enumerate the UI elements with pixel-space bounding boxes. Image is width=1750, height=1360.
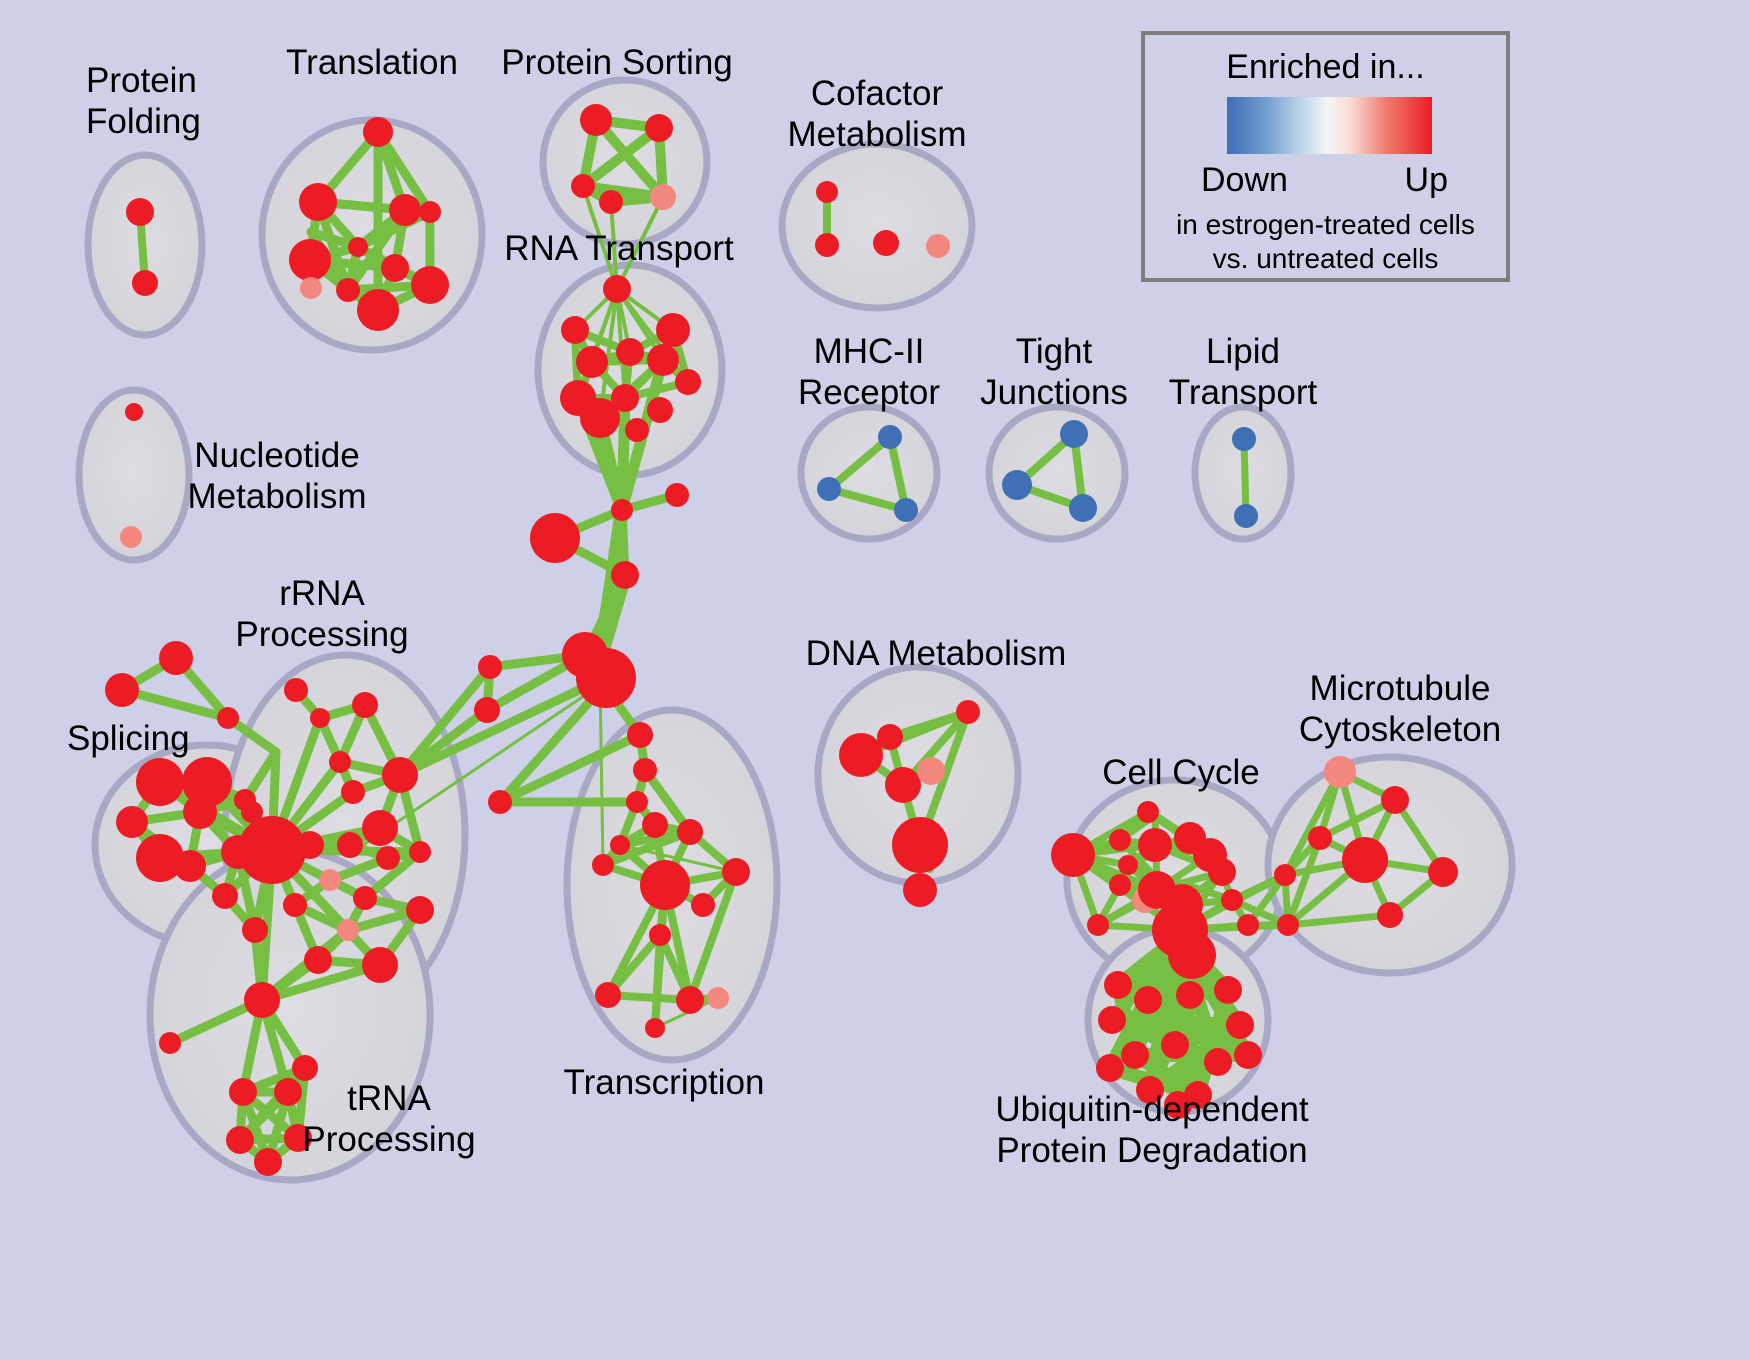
legend-panel: Enriched in... Down Up in estrogen-treat… xyxy=(1141,31,1510,282)
cluster-label-microtubule-cytoskeleton: Microtubule Cytoskeleton xyxy=(1299,668,1501,750)
hull-mhc-ii xyxy=(801,407,937,539)
cluster-label-cell-cycle: Cell Cycle xyxy=(1102,752,1260,793)
node-mhc-2 xyxy=(817,477,841,501)
cluster-label-tight-junctions: Tight Junctions xyxy=(980,331,1128,413)
node-mhc-3 xyxy=(894,498,918,522)
cluster-label-rrna-processing: rRNA Processing xyxy=(235,573,408,655)
cluster-label-protein-sorting: Protein Sorting xyxy=(501,42,733,83)
cluster-label-rna-transport: RNA Transport xyxy=(504,228,734,269)
cluster-label-splicing: Splicing xyxy=(67,718,190,759)
node-lipid-1 xyxy=(1232,427,1256,451)
legend-high-label: Up xyxy=(1405,161,1448,200)
cluster-label-protein-folding: Protein Folding xyxy=(86,60,201,142)
hull-cofactor-metabolism xyxy=(782,144,972,308)
legend-subtitle-line1: in estrogen-treated cells xyxy=(1176,209,1475,240)
legend-subtitle-line2: vs. untreated cells xyxy=(1213,243,1439,274)
cluster-label-cofactor-metabolism: Cofactor Metabolism xyxy=(788,73,967,155)
enrichment-network-figure: Protein Folding Translation Protein Sort… xyxy=(0,0,1750,1360)
node-tj-3 xyxy=(1069,494,1097,522)
cluster-label-mhc-ii-receptor: MHC-II Receptor xyxy=(798,331,940,413)
cluster-label-translation: Translation xyxy=(286,42,458,83)
hull-protein-sorting xyxy=(543,80,707,244)
legend-subtitle: in estrogen-treated cellsvs. untreated c… xyxy=(1145,208,1506,276)
node-tj-2 xyxy=(1002,470,1032,500)
cluster-label-lipid-transport: Lipid Transport xyxy=(1169,331,1317,413)
cluster-label-nucleotide-metabolism: Nucleotide Metabolism xyxy=(188,435,367,517)
legend-title: Enriched in... xyxy=(1145,48,1506,87)
cluster-label-ubiquitin-protein-degradation: Ubiquitin-dependent Protein Degradation xyxy=(995,1089,1308,1171)
cluster-label-dna-metabolism: DNA Metabolism xyxy=(806,633,1067,674)
cluster-label-trna-processing: tRNA Processing xyxy=(302,1078,475,1160)
legend-low-label: Down xyxy=(1201,161,1288,200)
node-tj-1 xyxy=(1060,420,1088,448)
node-lipid-2 xyxy=(1234,504,1258,528)
legend-color-gradient-bar xyxy=(1227,97,1432,154)
cluster-label-transcription: Transcription xyxy=(564,1062,765,1103)
node-mhc-1 xyxy=(878,425,902,449)
